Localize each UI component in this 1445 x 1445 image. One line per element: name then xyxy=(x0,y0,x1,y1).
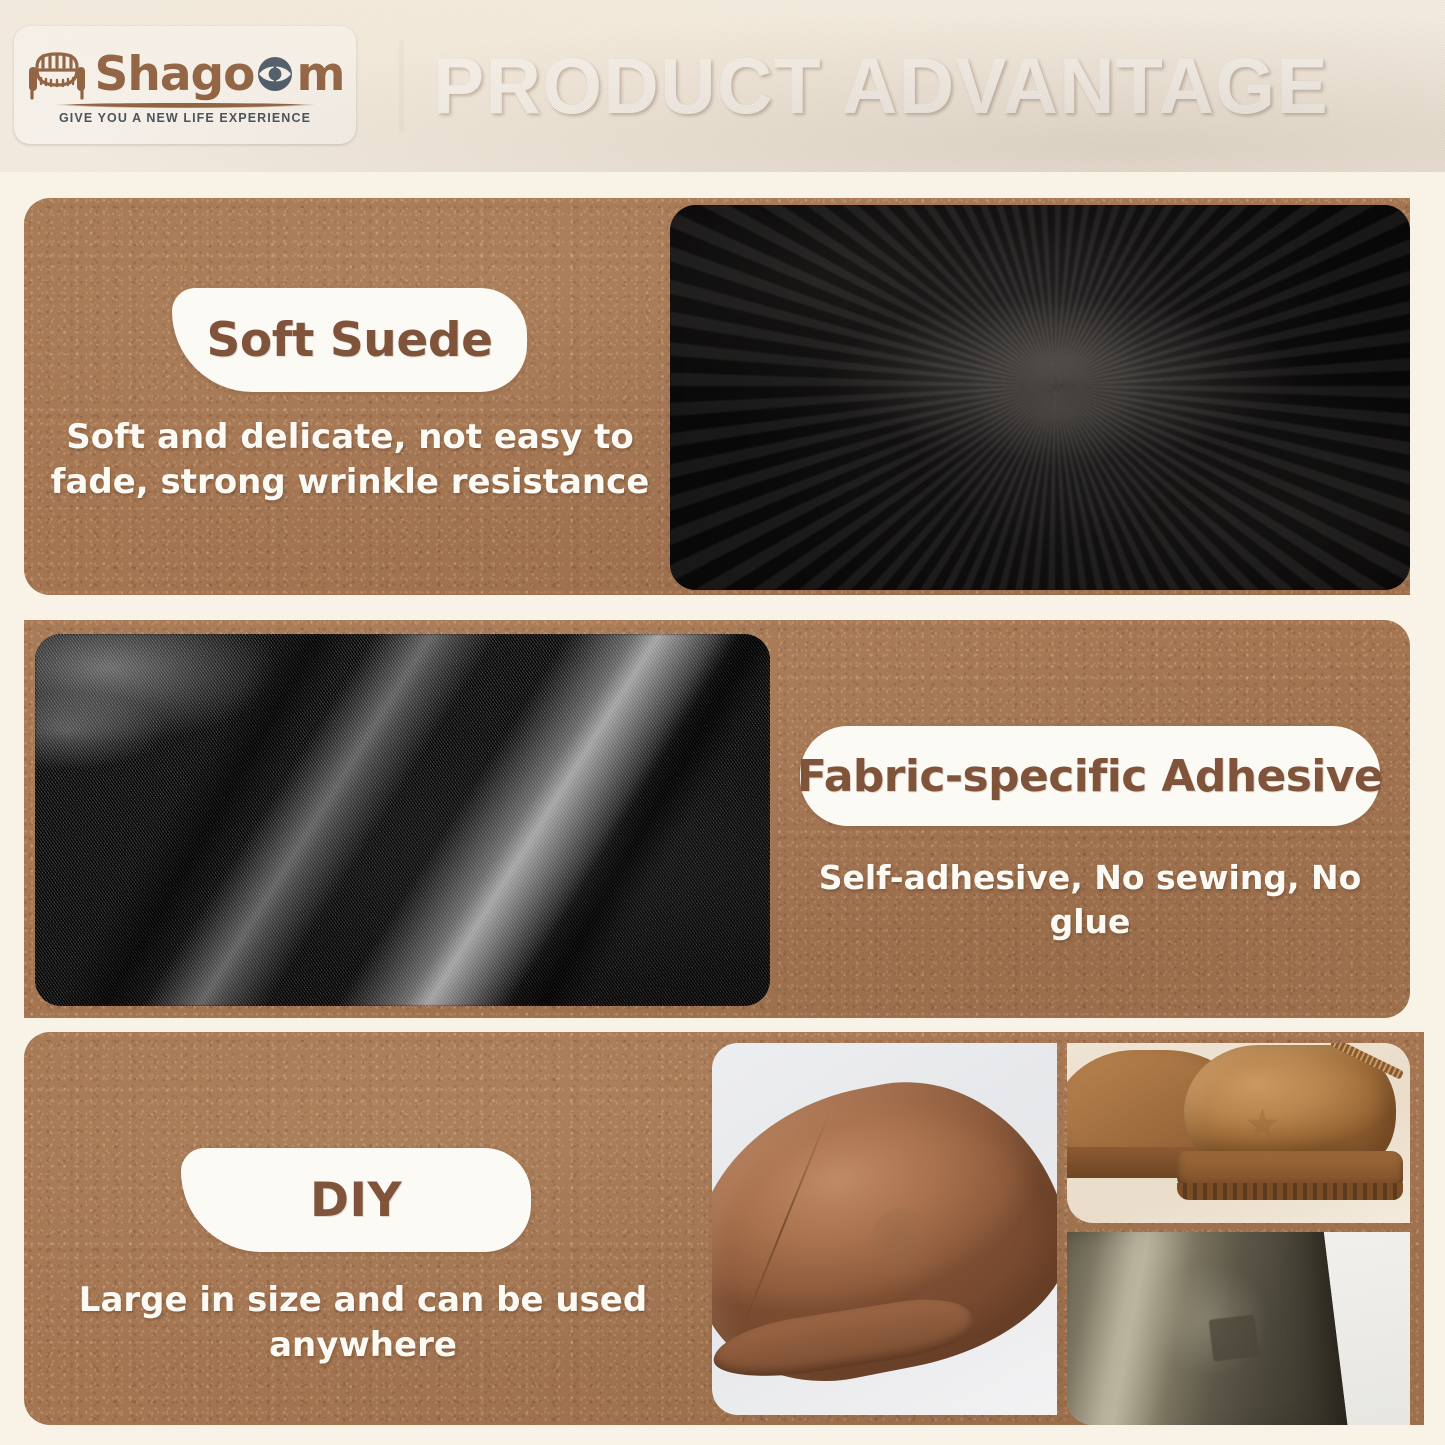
jacket-patch-detail xyxy=(1209,1314,1260,1361)
feature-label-text: DIY xyxy=(310,1173,402,1228)
feature-label-adhesive: Fabric-specific Adhesive xyxy=(800,726,1380,826)
boot-tread-pattern xyxy=(1177,1183,1403,1199)
feature-label-text: Soft Suede xyxy=(206,313,492,368)
photo-platform-slipper-boots xyxy=(1067,1043,1410,1223)
velvet-crease-lines xyxy=(35,634,770,1006)
brand-logo-row: Shagom xyxy=(26,48,345,102)
page-title: PRODUCT ADVANTAGE xyxy=(433,32,1329,140)
logo-underline-swoosh xyxy=(51,103,319,108)
photo-adhesive-fabric xyxy=(35,634,770,1006)
feature-label-diy: DIY xyxy=(181,1148,531,1252)
header-divider xyxy=(399,40,404,132)
brand-logo-box: Shagom GIVE YOU A NEW LIFE EXPERIENCE xyxy=(14,26,356,144)
feature-label-soft-suede: Soft Suede xyxy=(172,288,527,392)
feature-description-diy: Large in size and can be used anywhere xyxy=(38,1278,688,1368)
eye-icon xyxy=(255,54,295,94)
feature-description-adhesive: Self-adhesive, No sewing, No glue xyxy=(790,856,1390,943)
jacket-sheen-overlay xyxy=(1067,1232,1348,1425)
photo-suede-jacket-sleeve xyxy=(1067,1232,1410,1425)
brand-name: Shagom xyxy=(95,51,345,98)
brand-name-part-1: Shagom xyxy=(95,51,345,98)
suede-fold-lines xyxy=(670,205,1410,590)
page-header: Shagom GIVE YOU A NEW LIFE EXPERIENCE PR… xyxy=(0,0,1445,172)
sofa-icon xyxy=(26,48,88,102)
photo-suede-flat-cap xyxy=(712,1043,1057,1415)
brand-tagline: GIVE YOU A NEW LIFE EXPERIENCE xyxy=(59,111,311,125)
feature-label-text: Fabric-specific Adhesive xyxy=(797,751,1383,802)
feature-description-soft-suede: Soft and delicate, not easy to fade, str… xyxy=(40,415,660,505)
photo-soft-suede-fabric xyxy=(670,205,1410,590)
